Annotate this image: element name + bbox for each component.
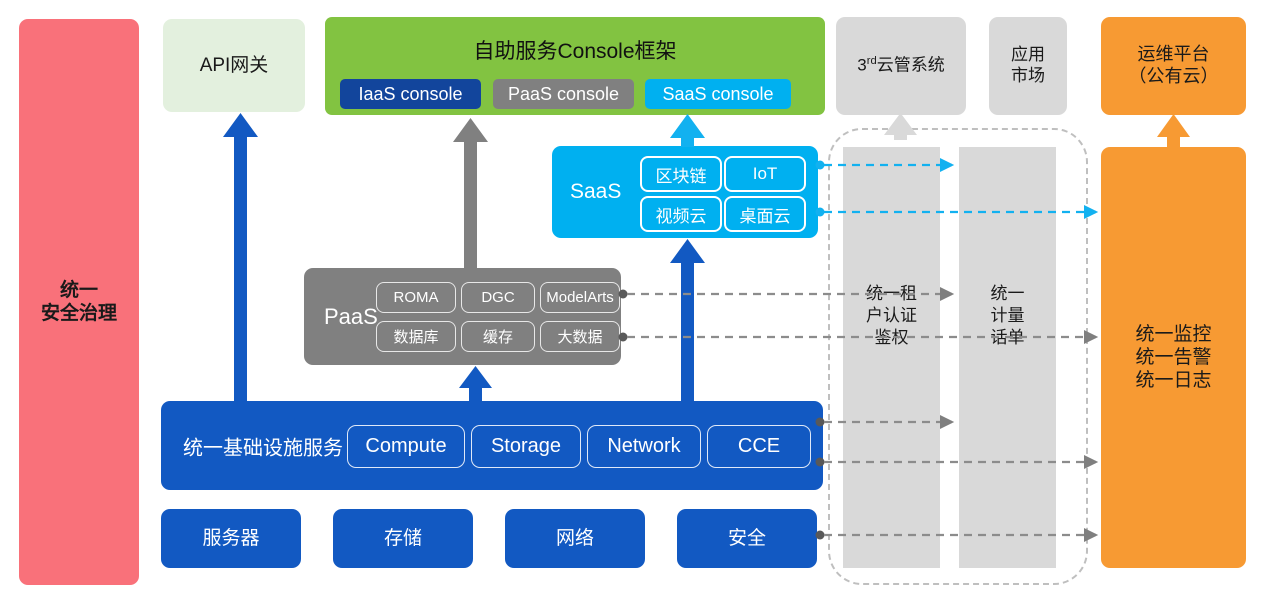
saas-block-label: SaaS <box>570 180 621 204</box>
infra-chip-compute-label: Compute <box>365 435 446 458</box>
arrow-paas-to-console <box>453 118 488 268</box>
paas-chip-bigdata-label: 大数据 <box>557 326 602 347</box>
security-governance-panel: 统一 安全治理 <box>19 19 139 585</box>
paas-chip-roma[interactable]: ROMA <box>376 282 456 313</box>
saas-chip-desktop-cloud-label: 桌面云 <box>740 202 791 227</box>
saas-chip-video-cloud-label: 视频云 <box>656 202 707 227</box>
paas-block-label: PaaS <box>324 304 378 330</box>
unified-infrastructure-label: 统一基础设施服务 <box>183 431 343 460</box>
hardware-box-server: 服务器 <box>161 509 301 568</box>
hardware-box-storage: 存储 <box>333 509 473 568</box>
saas-chip-video-cloud[interactable]: 视频云 <box>640 196 722 232</box>
paas-chip-cache-label: 缓存 <box>483 326 513 347</box>
console-frame-title: 自助服务Console框架 <box>325 35 825 65</box>
paas-chip-dgc[interactable]: DGC <box>461 282 535 313</box>
infra-chip-cce[interactable]: CCE <box>707 425 811 468</box>
arrow-infra-to-paas <box>459 366 492 402</box>
ops-platform-public-cloud-label: 运维平台 （公有云） <box>1129 44 1219 88</box>
saas-chip-blockchain-label: 区块链 <box>656 162 707 187</box>
hardware-box-security-label: 安全 <box>728 527 766 550</box>
infra-chip-compute[interactable]: Compute <box>347 425 465 468</box>
saas-chip-desktop-cloud[interactable]: 桌面云 <box>724 196 806 232</box>
unified-tenant-auth-column <box>843 147 940 568</box>
hardware-box-network-label: 网络 <box>556 527 594 550</box>
unified-metering-billing-label: 统一 计量 话单 <box>959 283 1056 349</box>
architecture-diagram: 统一 安全治理 API网关 自助服务Console框架 IaaS console… <box>0 0 1265 605</box>
paas-chip-database-label: 数据库 <box>393 326 438 347</box>
paas-console-label: PaaS console <box>508 84 619 105</box>
arrow-infra-to-saas <box>670 239 705 402</box>
paas-chip-cache[interactable]: 缓存 <box>461 321 535 352</box>
unified-tenant-auth-label: 统一租 户认证 鉴权 <box>843 283 940 349</box>
superscript-rd: rd <box>867 55 877 67</box>
hardware-box-storage-label: 存储 <box>384 527 422 550</box>
paas-chip-bigdata[interactable]: 大数据 <box>540 321 620 352</box>
unified-ops-panel: 统一监控 统一告警 统一日志 <box>1101 147 1246 568</box>
paas-chip-modelarts-label: ModelArts <box>546 289 614 306</box>
paas-chip-modelarts[interactable]: ModelArts <box>540 282 620 313</box>
arrow-ops-panel-to-ops-platform <box>1157 114 1190 147</box>
saas-chip-iot-label: IoT <box>753 164 778 184</box>
saas-block: SaaS 区块链 IoT 视频云 桌面云 <box>552 146 818 238</box>
iaas-console-label: IaaS console <box>358 84 462 105</box>
third-party-cloud-mgmt-label: 3rd云管系统 <box>857 55 944 76</box>
saas-console-chip[interactable]: SaaS console <box>645 79 791 109</box>
paas-block: PaaS ROMA DGC ModelArts 数据库 缓存 大数据 <box>304 268 621 365</box>
hardware-box-security: 安全 <box>677 509 817 568</box>
paas-chip-roma-label: ROMA <box>394 289 439 306</box>
infra-chip-storage[interactable]: Storage <box>471 425 581 468</box>
paas-console-chip[interactable]: PaaS console <box>493 79 634 109</box>
infra-chip-network-label: Network <box>607 435 680 458</box>
saas-chip-iot[interactable]: IoT <box>724 156 806 192</box>
infra-chip-cce-label: CCE <box>738 435 780 458</box>
hardware-box-server-label: 服务器 <box>202 527 259 550</box>
saas-chip-blockchain[interactable]: 区块链 <box>640 156 722 192</box>
third-party-cloud-mgmt-box: 3rd云管系统 <box>836 17 966 115</box>
ops-platform-public-cloud-box: 运维平台 （公有云） <box>1101 17 1246 115</box>
app-market-label: 应用 市场 <box>1011 45 1045 86</box>
api-gateway-label: API网关 <box>200 54 269 77</box>
api-gateway-box: API网关 <box>163 19 305 112</box>
unified-infrastructure-bar: 统一基础设施服务 Compute Storage Network CCE <box>161 401 823 490</box>
hardware-box-network: 网络 <box>505 509 645 568</box>
app-market-box: 应用 市场 <box>989 17 1067 115</box>
infra-chip-storage-label: Storage <box>491 435 561 458</box>
arrow-saas-to-console <box>670 114 705 147</box>
self-service-console-frame: 自助服务Console框架 IaaS console PaaS console … <box>325 17 825 115</box>
paas-chip-dgc-label: DGC <box>481 289 514 306</box>
unified-metering-billing-column <box>959 147 1056 568</box>
arrow-infra-to-api-gateway <box>223 113 258 401</box>
saas-console-label: SaaS console <box>662 84 773 105</box>
unified-ops-label: 统一监控 统一告警 统一日志 <box>1135 323 1211 393</box>
infra-chip-network[interactable]: Network <box>587 425 701 468</box>
security-governance-label: 统一 安全治理 <box>41 279 117 325</box>
paas-chip-database[interactable]: 数据库 <box>376 321 456 352</box>
iaas-console-chip[interactable]: IaaS console <box>340 79 481 109</box>
